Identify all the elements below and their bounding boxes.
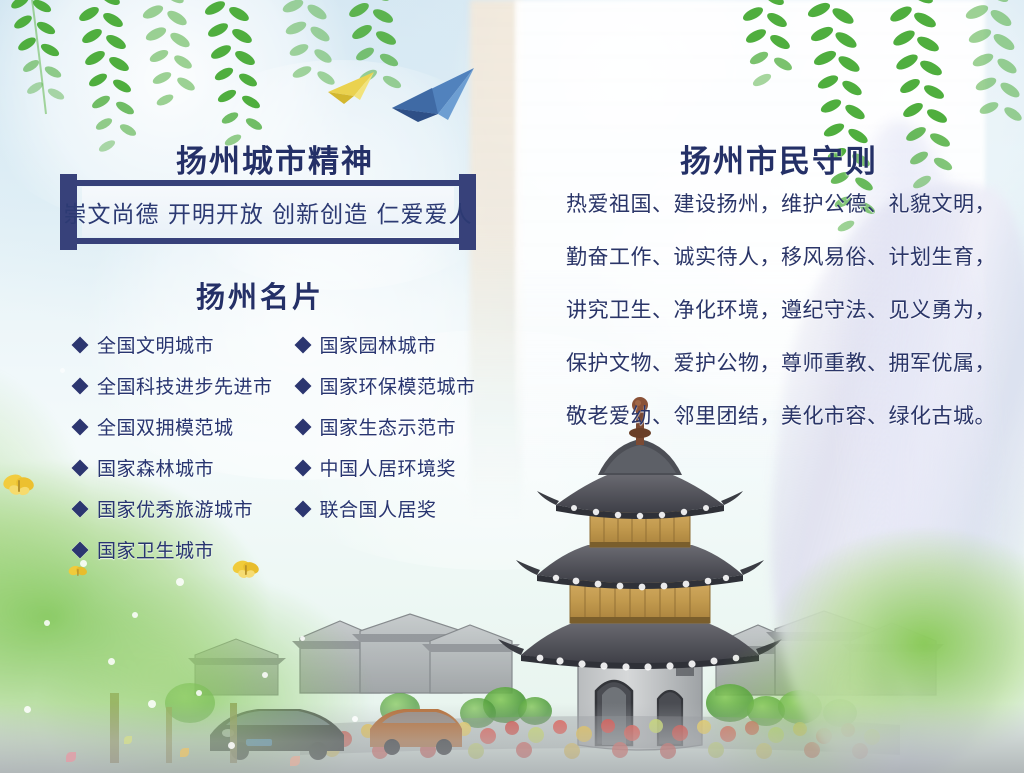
banner-top-bar	[60, 180, 476, 186]
list-item-label: 中国人居环境奖	[320, 454, 457, 481]
diamond-bullet-icon	[72, 500, 89, 517]
diamond-bullet-icon	[294, 377, 311, 394]
code-line: 热爱祖国、建设扬州，维护公德、礼貌文明，	[566, 188, 986, 218]
motto-text: 崇文尚德 开明开放 创新创造 仁爱爱人	[64, 195, 473, 229]
motto-banner: 崇文尚德 开明开放 创新创造 仁爱爱人	[60, 180, 476, 244]
list-item: 国家生态示范市	[297, 406, 476, 447]
list-item: 中国人居环境奖	[297, 447, 476, 488]
diamond-bullet-icon	[294, 418, 311, 435]
list-item-label: 全国文明城市	[97, 331, 214, 358]
list-item-label: 联合国人居奖	[320, 495, 437, 522]
list-item-label: 国家优秀旅游城市	[97, 495, 253, 522]
list-item: 国家园林城市	[297, 324, 476, 365]
page-title-city-spirit: 扬州城市精神	[176, 136, 374, 181]
diamond-bullet-icon	[72, 418, 89, 435]
banner-bottom-bar	[60, 238, 476, 244]
city-cards-column-1: 全国文明城市 全国科技进步先进市 全国双拥模范城 国家森林城市 国家优秀旅游城市…	[74, 324, 273, 570]
page-title-citizen-code: 扬州市民守则	[680, 136, 878, 181]
city-cards-list: 全国文明城市 全国科技进步先进市 全国双拥模范城 国家森林城市 国家优秀旅游城市…	[74, 324, 494, 570]
citizen-code-body: 热爱祖国、建设扬州，维护公德、礼貌文明， 勤奋工作、诚实待人，移风易俗、计划生育…	[566, 188, 986, 453]
list-item: 全国文明城市	[74, 324, 273, 365]
ground-strip	[0, 703, 1024, 773]
diamond-bullet-icon	[294, 459, 311, 476]
section-title-city-cards: 扬州名片	[196, 274, 324, 316]
code-line: 勤奋工作、诚实待人，移风易俗、计划生育，	[566, 241, 986, 271]
banner-inner-panel: 崇文尚德 开明开放 创新创造 仁爱爱人	[82, 187, 454, 237]
list-item: 国家环保模范城市	[297, 365, 476, 406]
list-item-label: 国家园林城市	[320, 331, 437, 358]
diamond-bullet-icon	[72, 541, 89, 558]
list-item-label: 国家生态示范市	[320, 413, 457, 440]
list-item-label: 国家卫生城市	[97, 536, 214, 563]
list-item-label: 全国科技进步先进市	[97, 372, 273, 399]
code-line: 讲究卫生、净化环境，遵纪守法、见义勇为，	[566, 294, 986, 324]
list-item-label: 全国双拥模范城	[97, 413, 234, 440]
diamond-bullet-icon	[72, 377, 89, 394]
list-item-label: 国家环保模范城市	[320, 372, 476, 399]
diamond-bullet-icon	[72, 459, 89, 476]
list-item-label: 国家森林城市	[97, 454, 214, 481]
city-cards-column-2: 国家园林城市 国家环保模范城市 国家生态示范市 中国人居环境奖 联合国人居奖	[297, 324, 476, 570]
diamond-bullet-icon	[294, 500, 311, 517]
list-item: 国家优秀旅游城市	[74, 488, 273, 529]
list-item: 联合国人居奖	[297, 488, 476, 529]
list-item: 国家卫生城市	[74, 529, 273, 570]
list-item: 全国双拥模范城	[74, 406, 273, 447]
code-line: 保护文物、爱护公物，尊师重教、拥军优属，	[566, 347, 986, 377]
diamond-bullet-icon	[72, 336, 89, 353]
list-item: 国家森林城市	[74, 447, 273, 488]
diamond-bullet-icon	[294, 336, 311, 353]
list-item: 全国科技进步先进市	[74, 365, 273, 406]
code-line: 敬老爱幼、邻里团结，美化市容、绿化古城。	[566, 400, 986, 430]
poster-canvas: 扬州城市精神 崇文尚德 开明开放 创新创造 仁爱爱人 扬州名片 全国文明城市 全…	[0, 0, 1024, 773]
